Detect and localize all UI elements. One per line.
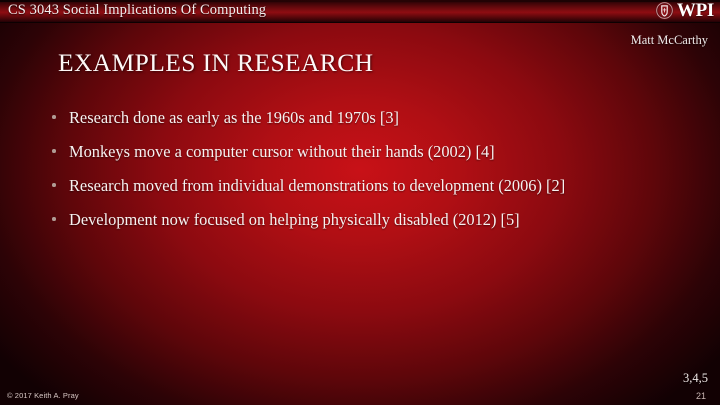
- wpi-wordmark: WPI: [677, 1, 714, 20]
- list-item: Development now focused on helping physi…: [52, 209, 664, 230]
- bullet-dot-icon: [52, 175, 69, 187]
- bullet-dot-icon: [52, 107, 69, 119]
- list-item-text: Research moved from individual demonstra…: [69, 175, 664, 196]
- list-item: Research moved from individual demonstra…: [52, 175, 664, 196]
- copyright-notice: © 2017 Keith A. Pray: [7, 391, 79, 400]
- bullet-dot-icon: [52, 141, 69, 153]
- wpi-logo: WPI: [655, 1, 714, 20]
- slide-number: 21: [696, 391, 706, 401]
- list-item: Research done as early as the 1960s and …: [52, 107, 664, 128]
- wpi-seal-icon: [655, 1, 674, 20]
- reference-note: 3,4,5: [683, 371, 708, 386]
- slide-title: EXAMPLES IN RESEARCH: [58, 48, 373, 78]
- slide-header-band: CS 3043 Social Implications Of Computing…: [0, 0, 720, 23]
- course-title: CS 3043 Social Implications Of Computing: [8, 2, 266, 19]
- presenter-name: Matt McCarthy: [631, 33, 708, 48]
- bullet-dot-icon: [52, 209, 69, 221]
- list-item: Monkeys move a computer cursor without t…: [52, 141, 664, 162]
- list-item-text: Research done as early as the 1960s and …: [69, 107, 664, 128]
- list-item-text: Monkeys move a computer cursor without t…: [69, 141, 664, 162]
- presentation-slide: CS 3043 Social Implications Of Computing…: [0, 0, 720, 405]
- list-item-text: Development now focused on helping physi…: [69, 209, 664, 230]
- bullet-list: Research done as early as the 1960s and …: [52, 107, 664, 243]
